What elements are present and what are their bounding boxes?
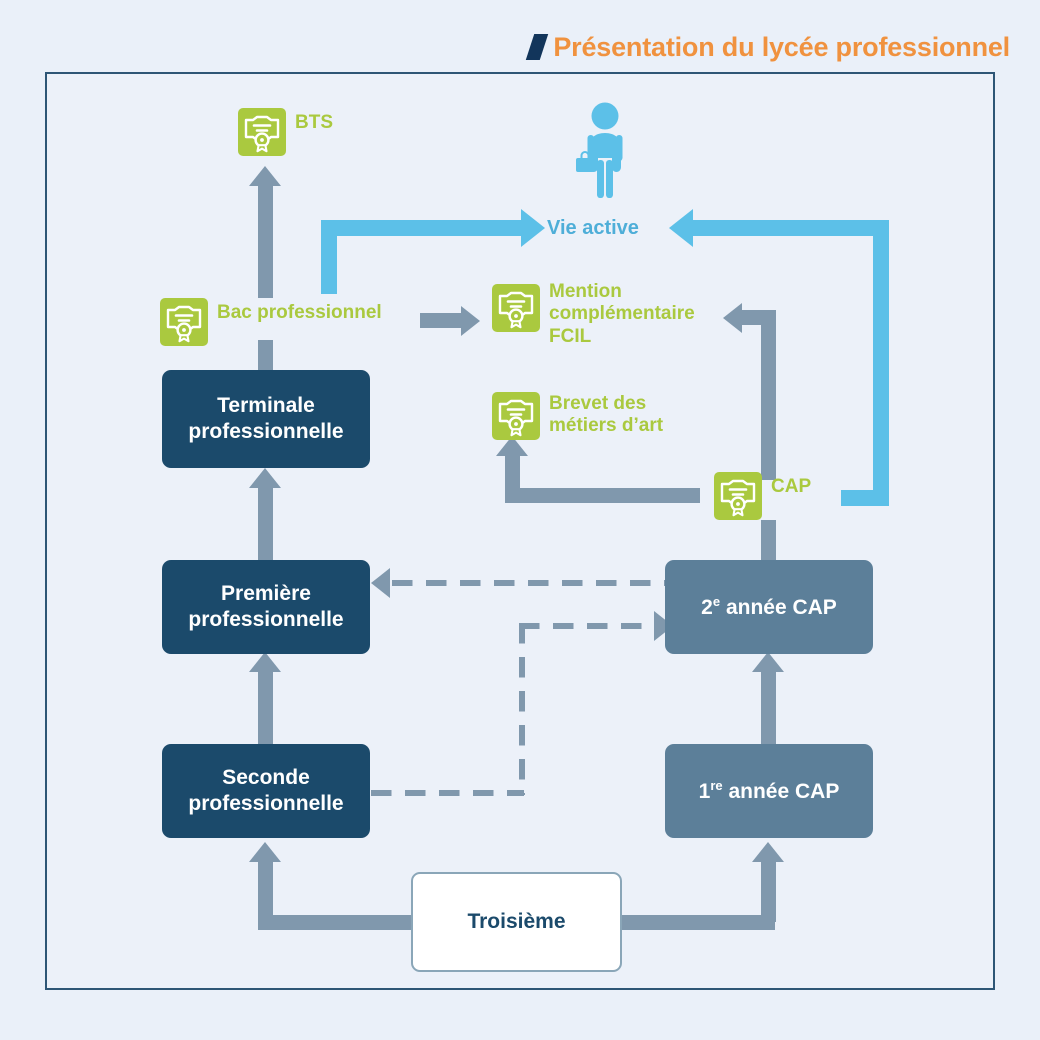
page-title: Présentation du lycée professionnel (553, 32, 1010, 63)
arrowhead-terminale-bottom (249, 468, 281, 488)
edge-cap-to-mention-h (742, 310, 776, 325)
edge-cap2-to-cap (761, 520, 776, 560)
edge-cap1-to-cap2 (761, 672, 776, 744)
diagram-frame (45, 72, 995, 990)
node-label: Bac professionnel (217, 298, 382, 324)
slash-icon (526, 34, 548, 60)
node-label: Brevet des métiers d’art (549, 392, 663, 438)
node-label: Mention complémentaire FCIL (549, 281, 695, 348)
arrowhead-vieactive-left (521, 209, 545, 247)
node-label: BTS (295, 108, 333, 134)
box-label: Première professionnelle (188, 581, 343, 632)
node-brevet-des-metiers-dart[interactable]: Brevet des métiers d’art (492, 392, 663, 445)
node-label: CAP (771, 472, 811, 498)
arrowhead-seconde-bottom (249, 842, 281, 862)
page-header: Présentation du lycée professionnel (0, 32, 1010, 63)
edge-seconde-to-premiere (258, 672, 273, 744)
edge-seconde-to-cap2-dashed-v (519, 623, 525, 795)
edge-cap-to-brevet-v (505, 455, 520, 495)
edge-troisieme-to-seconde-h (258, 915, 420, 930)
box-2e-annee-cap[interactable]: 2e année CAP (665, 560, 873, 654)
arrowhead-vieactive-right (669, 209, 693, 247)
box-seconde-professionnelle[interactable]: Seconde professionnelle (162, 744, 370, 838)
edge-troisieme-to-cap1-h (620, 915, 775, 930)
box-premiere-professionnelle[interactable]: Première professionnelle (162, 560, 370, 654)
arrowhead-premiere-right-dashed (371, 568, 390, 598)
box-troisieme[interactable]: Troisième (411, 872, 622, 972)
edge-cap2-to-premiere-dashed (392, 580, 665, 586)
diploma-icon (492, 284, 540, 337)
node-bac-professionnel[interactable]: Bac professionnel (160, 298, 382, 351)
edge-bacpro-to-mention-h (420, 313, 462, 328)
edge-cap-to-vieactive-v (873, 220, 889, 502)
box-1re-annee-cap[interactable]: 1re année CAP (665, 744, 873, 838)
edge-troisieme-to-cap1-v (761, 862, 776, 922)
edge-cap-to-mention-v (761, 324, 776, 480)
box-label: Troisième (467, 909, 565, 935)
node-cap[interactable]: CAP (714, 472, 811, 525)
arrowhead-mention-left (461, 306, 480, 336)
vie-active-label: Vie active (547, 217, 639, 240)
arrowhead-premiere-bottom (249, 652, 281, 672)
edge-bacpro-to-bts (258, 186, 273, 298)
arrowhead-cap1-bottom (752, 842, 784, 862)
node-mention-complementaire-fcil[interactable]: Mention complémentaire FCIL (492, 284, 695, 348)
box-label: Seconde professionnelle (188, 765, 343, 816)
box-label: Terminale professionnelle (188, 393, 343, 444)
node-bts[interactable]: BTS (238, 108, 333, 161)
arrowhead-bts-bottom (249, 166, 281, 186)
diploma-icon (238, 108, 286, 161)
edge-cap-to-brevet-h (505, 488, 700, 503)
box-label: 1re année CAP (699, 778, 840, 805)
diploma-icon (714, 472, 762, 525)
edge-seconde-to-cap2-dashed-h2 (519, 623, 666, 629)
box-terminale-professionnelle[interactable]: Terminale professionnelle (162, 370, 370, 468)
edge-troisieme-to-seconde-v (258, 862, 273, 922)
edge-seconde-to-cap2-dashed-h1 (371, 790, 524, 796)
diploma-icon (160, 298, 208, 351)
edge-cap-to-vieactive-h-top (693, 220, 889, 236)
edge-premiere-to-terminale (258, 488, 273, 560)
arrowhead-cap2-bottom (752, 652, 784, 672)
worker-person-icon (566, 100, 644, 205)
edge-bacpro-to-vieactive-h (321, 220, 523, 236)
diploma-icon (492, 392, 540, 445)
diagram-page: Présentation du lycée professionnel (0, 0, 1040, 1040)
box-label: 2e année CAP (701, 594, 837, 621)
arrowhead-mention-right (723, 303, 742, 333)
edge-bacpro-to-vieactive-v (321, 232, 337, 294)
